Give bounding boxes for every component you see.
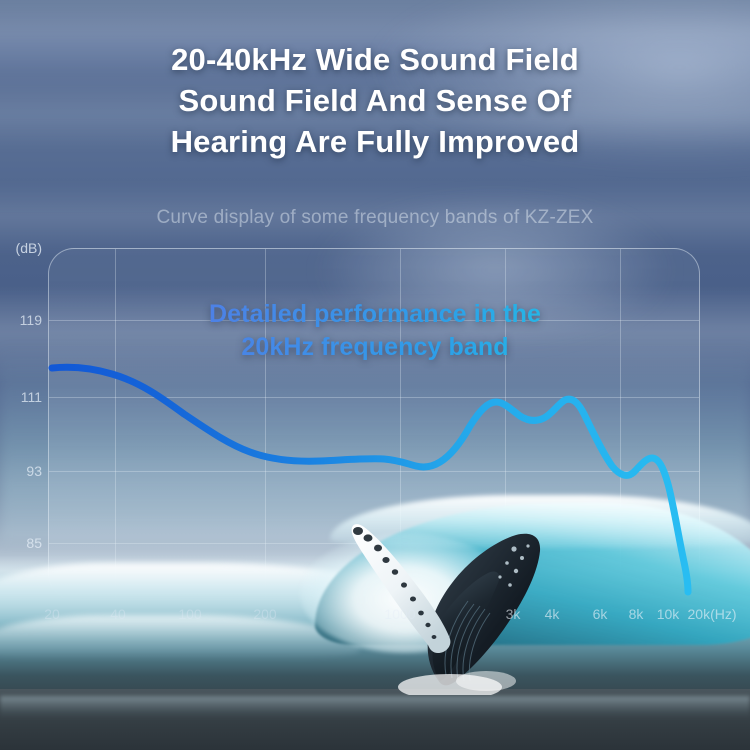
overlay-line-1: Detailed performance in the bbox=[0, 298, 750, 331]
y-axis-labels: (dB) 119 111 93 85 bbox=[0, 240, 46, 610]
humpback-whale-illustration bbox=[300, 505, 550, 695]
y-axis-tick: 111 bbox=[21, 389, 42, 405]
y-axis-tick: 93 bbox=[26, 463, 42, 479]
x-axis-tick: 6k bbox=[593, 606, 608, 622]
x-axis-tick: 4k bbox=[545, 606, 560, 622]
gridline-horizontal bbox=[49, 471, 699, 472]
y-axis-tick: 85 bbox=[26, 535, 42, 551]
chart-caption: Curve display of some frequency bands of… bbox=[0, 207, 750, 229]
promo-banner: 20-40kHz Wide Sound Field Sound Field An… bbox=[0, 0, 750, 750]
x-axis-tick: 20 bbox=[44, 606, 60, 622]
x-axis-tick: 10k bbox=[657, 606, 680, 622]
headline-line-2: Sound Field And Sense Of bbox=[0, 81, 750, 122]
chart-overlay-callout: Detailed performance in the 20kHz freque… bbox=[0, 298, 750, 364]
headline-line-3: Hearing Are Fully Improved bbox=[0, 122, 750, 163]
x-axis-tick: 200 bbox=[253, 606, 276, 622]
x-axis-labels: 20 40 100 200 1000 3k 4k 6k 8k 10k 20k(H… bbox=[0, 606, 750, 628]
headline-line-1: 20-40kHz Wide Sound Field bbox=[0, 40, 750, 81]
x-axis-tick: 8k bbox=[629, 606, 644, 622]
x-axis-tick: 20k(Hz) bbox=[687, 606, 736, 622]
x-axis-tick: 100 bbox=[178, 606, 201, 622]
x-axis-tick: 3k bbox=[506, 606, 521, 622]
x-axis-tick: 40 bbox=[110, 606, 126, 622]
beach-water-sheen bbox=[0, 696, 750, 719]
y-axis-unit: (dB) bbox=[16, 240, 42, 256]
gridline-horizontal bbox=[49, 397, 699, 398]
x-axis-tick: 1000 bbox=[384, 606, 415, 622]
overlay-line-2: 20kHz frequency band bbox=[0, 331, 750, 364]
headline: 20-40kHz Wide Sound Field Sound Field An… bbox=[0, 40, 750, 163]
